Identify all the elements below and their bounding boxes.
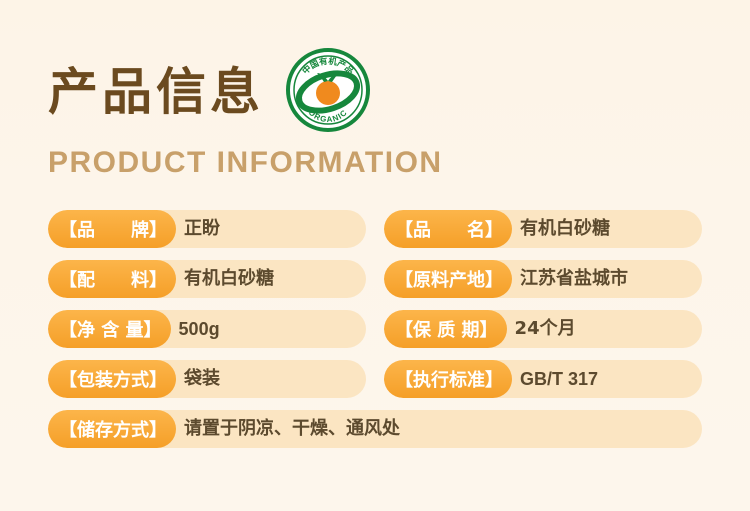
table-row: 【品 牌】 正盼 【品 名】 有机白砂糖: [48, 210, 702, 248]
info-cell-ingredients: 【配 料】 有机白砂糖: [48, 260, 366, 298]
info-label: 【包装方式】: [48, 360, 176, 398]
info-cell-product-name: 【品 名】 有机白砂糖: [384, 210, 702, 248]
info-value: 袋装: [176, 360, 220, 398]
info-value: 正盼: [176, 210, 220, 248]
info-label: 【保 质 期】: [384, 310, 507, 348]
info-cell-storage: 【储存方式】 请置于阴凉、干燥、通风处: [48, 410, 702, 448]
info-cell-brand: 【品 牌】 正盼: [48, 210, 366, 248]
info-cell-packaging: 【包装方式】 袋装: [48, 360, 366, 398]
info-value: 24个月: [507, 310, 576, 348]
info-label: 【品 名】: [384, 210, 512, 248]
info-value: 请置于阴凉、干燥、通风处: [176, 410, 400, 448]
table-row: 【储存方式】 请置于阴凉、干燥、通风处: [48, 410, 702, 448]
page-subtitle: PRODUCT INFORMATION: [48, 148, 708, 178]
title-row: 产品信息 中国有机产品: [48, 52, 708, 132]
info-label: 【净 含 量】: [48, 310, 171, 348]
info-value: 有机白砂糖: [176, 260, 274, 298]
info-cell-shelf-life: 【保 质 期】 24个月: [384, 310, 702, 348]
info-value: 江苏省盐城市: [512, 260, 628, 298]
product-information-page: 产品信息 中国有机产品: [0, 0, 750, 511]
info-value: 有机白砂糖: [512, 210, 610, 248]
info-cell-origin: 【原料产地】 江苏省盐城市: [384, 260, 702, 298]
info-label: 【执行标准】: [384, 360, 512, 398]
china-organic-product-certification-logo-icon: 中国有机产品 ORGANIC: [286, 48, 370, 132]
info-label: 【品 牌】: [48, 210, 176, 248]
info-label: 【储存方式】: [48, 410, 176, 448]
info-cell-standard: 【执行标准】 GB/T 317: [384, 360, 702, 398]
page-title: 产品信息: [48, 67, 264, 117]
info-table: 【品 牌】 正盼 【品 名】 有机白砂糖 【配 料】 有机白砂糖 【原料产地】 …: [48, 210, 702, 460]
info-label: 【原料产地】: [384, 260, 512, 298]
table-row: 【净 含 量】 500g 【保 质 期】 24个月: [48, 310, 702, 348]
info-cell-net-weight: 【净 含 量】 500g: [48, 310, 366, 348]
page-header: 产品信息 中国有机产品: [48, 52, 708, 178]
info-value: GB/T 317: [512, 360, 598, 398]
table-row: 【包装方式】 袋装 【执行标准】 GB/T 317: [48, 360, 702, 398]
table-row: 【配 料】 有机白砂糖 【原料产地】 江苏省盐城市: [48, 260, 702, 298]
info-value: 500g: [171, 310, 220, 348]
info-label: 【配 料】: [48, 260, 176, 298]
